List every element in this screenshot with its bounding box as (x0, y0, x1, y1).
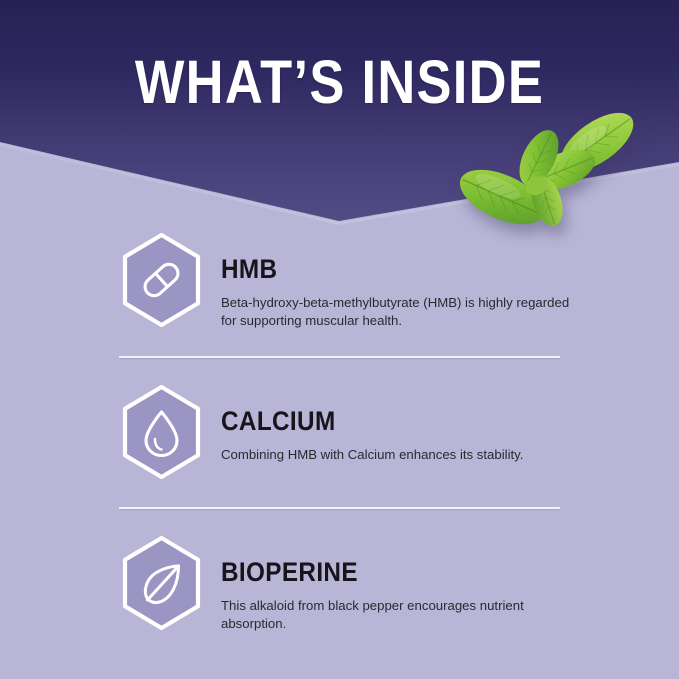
leaf-icon (119, 535, 204, 631)
ingredient-item-hmb: HMB Beta-hydroxy-beta-methylbutyrate (HM… (0, 232, 679, 329)
ingredient-item-calcium: CALCIUM Combining HMB with Calcium enhan… (0, 384, 679, 480)
ingredient-name: CALCIUM (221, 408, 543, 435)
whats-inside-poster: WHAT’S INSIDE (0, 0, 679, 679)
water-droplet-icon (119, 384, 204, 480)
spacer (0, 329, 679, 356)
spacer (0, 509, 679, 535)
ingredient-item-bioperine: BIOPERINE This alkaloid from black peppe… (0, 535, 679, 632)
ingredient-description: This alkaloid from black pepper encourag… (221, 597, 579, 632)
spacer (0, 358, 679, 384)
ingredient-description: Combining HMB with Calcium enhances its … (221, 446, 579, 464)
basil-leaf-sprig-icon (447, 100, 647, 240)
ingredient-text-block: CALCIUM Combining HMB with Calcium enhan… (221, 384, 579, 464)
ingredient-name: BIOPERINE (221, 559, 543, 586)
ingredient-text-block: BIOPERINE This alkaloid from black peppe… (221, 535, 579, 632)
ingredient-text-block: HMB Beta-hydroxy-beta-methylbutyrate (HM… (221, 232, 579, 329)
ingredient-name: HMB (221, 256, 543, 283)
spacer (0, 480, 679, 507)
pill-capsule-icon (119, 232, 204, 328)
ingredient-list: HMB Beta-hydroxy-beta-methylbutyrate (HM… (0, 232, 679, 632)
ingredient-description: Beta-hydroxy-beta-methylbutyrate (HMB) i… (221, 294, 579, 329)
